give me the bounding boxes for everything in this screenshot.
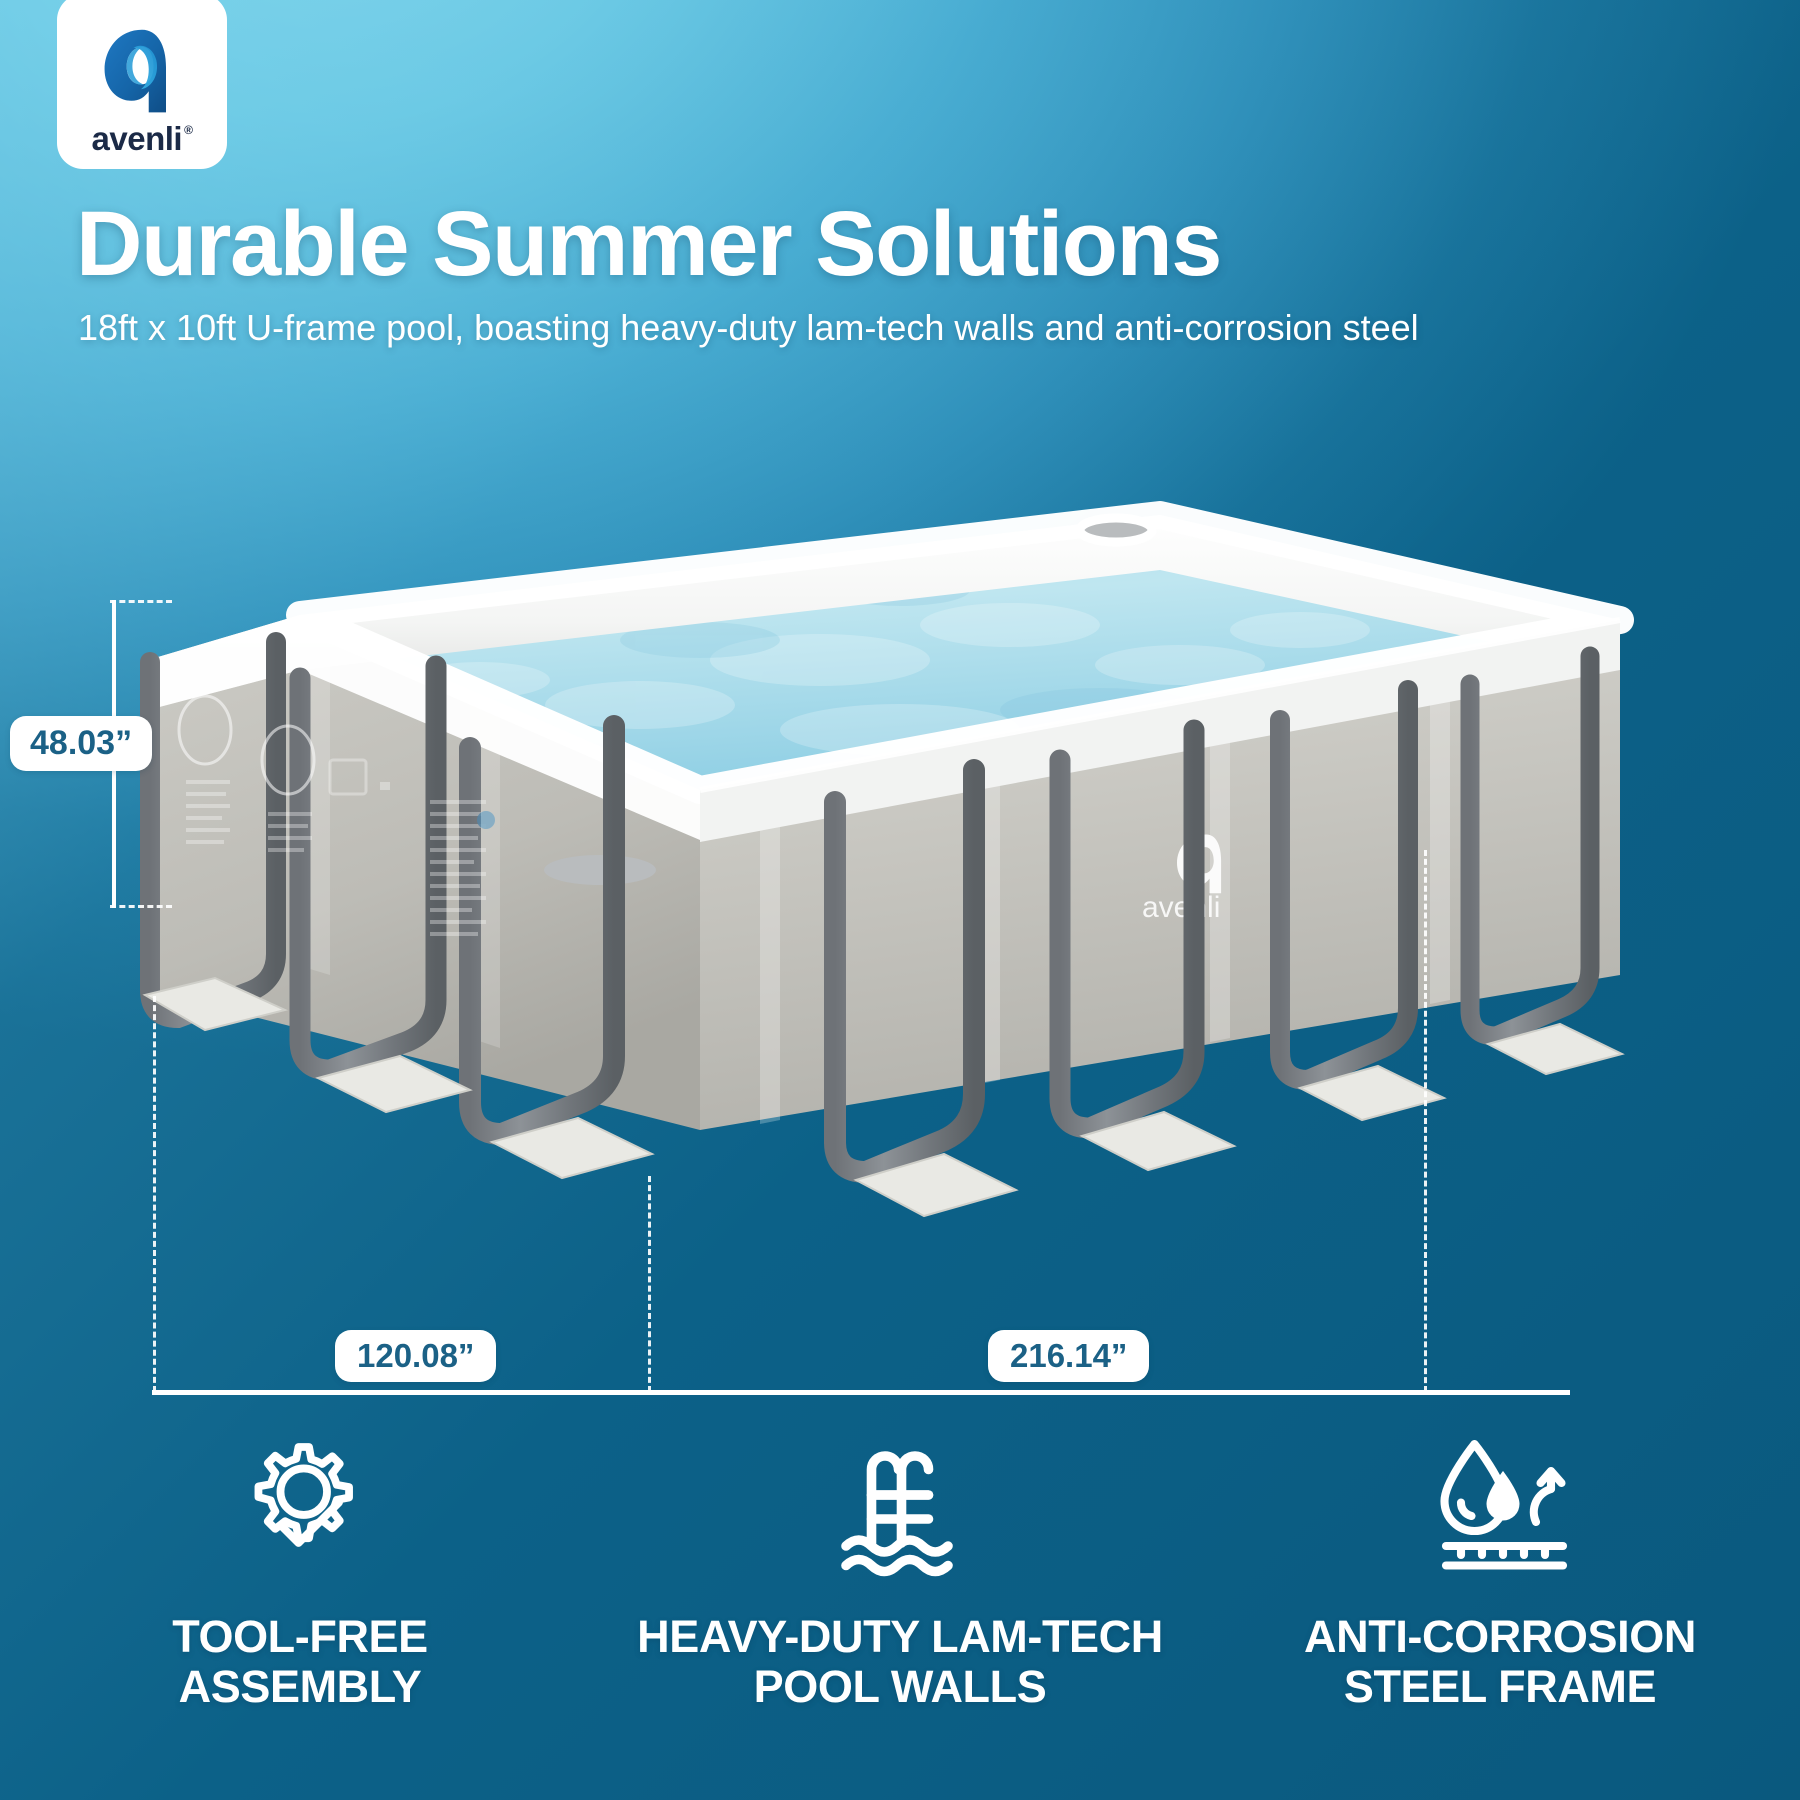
avenli-a-droplet-logo-icon [94, 24, 190, 120]
width-guide-mid [648, 1176, 651, 1392]
feature-label: ANTI-CORROSION STEEL FRAME [1304, 1612, 1696, 1713]
feature-label: HEAVY-DUTY LAM-TECH POOL WALLS [637, 1612, 1163, 1713]
feature-list: TOOL-FREE ASSEMBLY HEAVY-DUTY LAM-TECH P… [0, 1432, 1800, 1772]
svg-text:avenli: avenli [1142, 891, 1220, 924]
infographic-canvas: avenli ® Durable Summer Solutions 18ft x… [0, 0, 1800, 1800]
width-guide-left [153, 996, 156, 1392]
product-image: avenli [0, 430, 1800, 1370]
feature-label: TOOL-FREE ASSEMBLY [172, 1612, 428, 1713]
brand-logo-badge: avenli ® [57, 0, 227, 169]
dimension-badge-height: 48.03” [10, 716, 152, 771]
width-guide-right [1424, 850, 1427, 1392]
dimension-badge-length: 216.14” [988, 1330, 1149, 1382]
page-subtitle: 18ft x 10ft U-frame pool, boasting heavy… [78, 305, 1758, 350]
feature-item-pool-walls: HEAVY-DUTY LAM-TECH POOL WALLS [600, 1432, 1200, 1772]
height-guide-bottom [110, 905, 172, 908]
water-repellent-icon [1425, 1432, 1575, 1582]
dimension-badge-width: 120.08” [335, 1330, 496, 1382]
gear-check-icon [225, 1432, 375, 1582]
brand-wordmark: avenli ® [92, 122, 193, 155]
brand-name: avenli [92, 122, 183, 155]
page-title: Durable Summer Solutions [76, 198, 1736, 292]
feature-item-tool-free-assembly: TOOL-FREE ASSEMBLY [0, 1432, 600, 1772]
pool-illustration-icon: avenli [0, 430, 1800, 1370]
feature-item-steel-frame: ANTI-CORROSION STEEL FRAME [1200, 1432, 1800, 1772]
registered-mark: ® [184, 124, 192, 136]
height-guide-top [110, 600, 172, 603]
pool-ladder-icon [825, 1432, 975, 1582]
width-dimension-line [152, 1390, 1570, 1395]
